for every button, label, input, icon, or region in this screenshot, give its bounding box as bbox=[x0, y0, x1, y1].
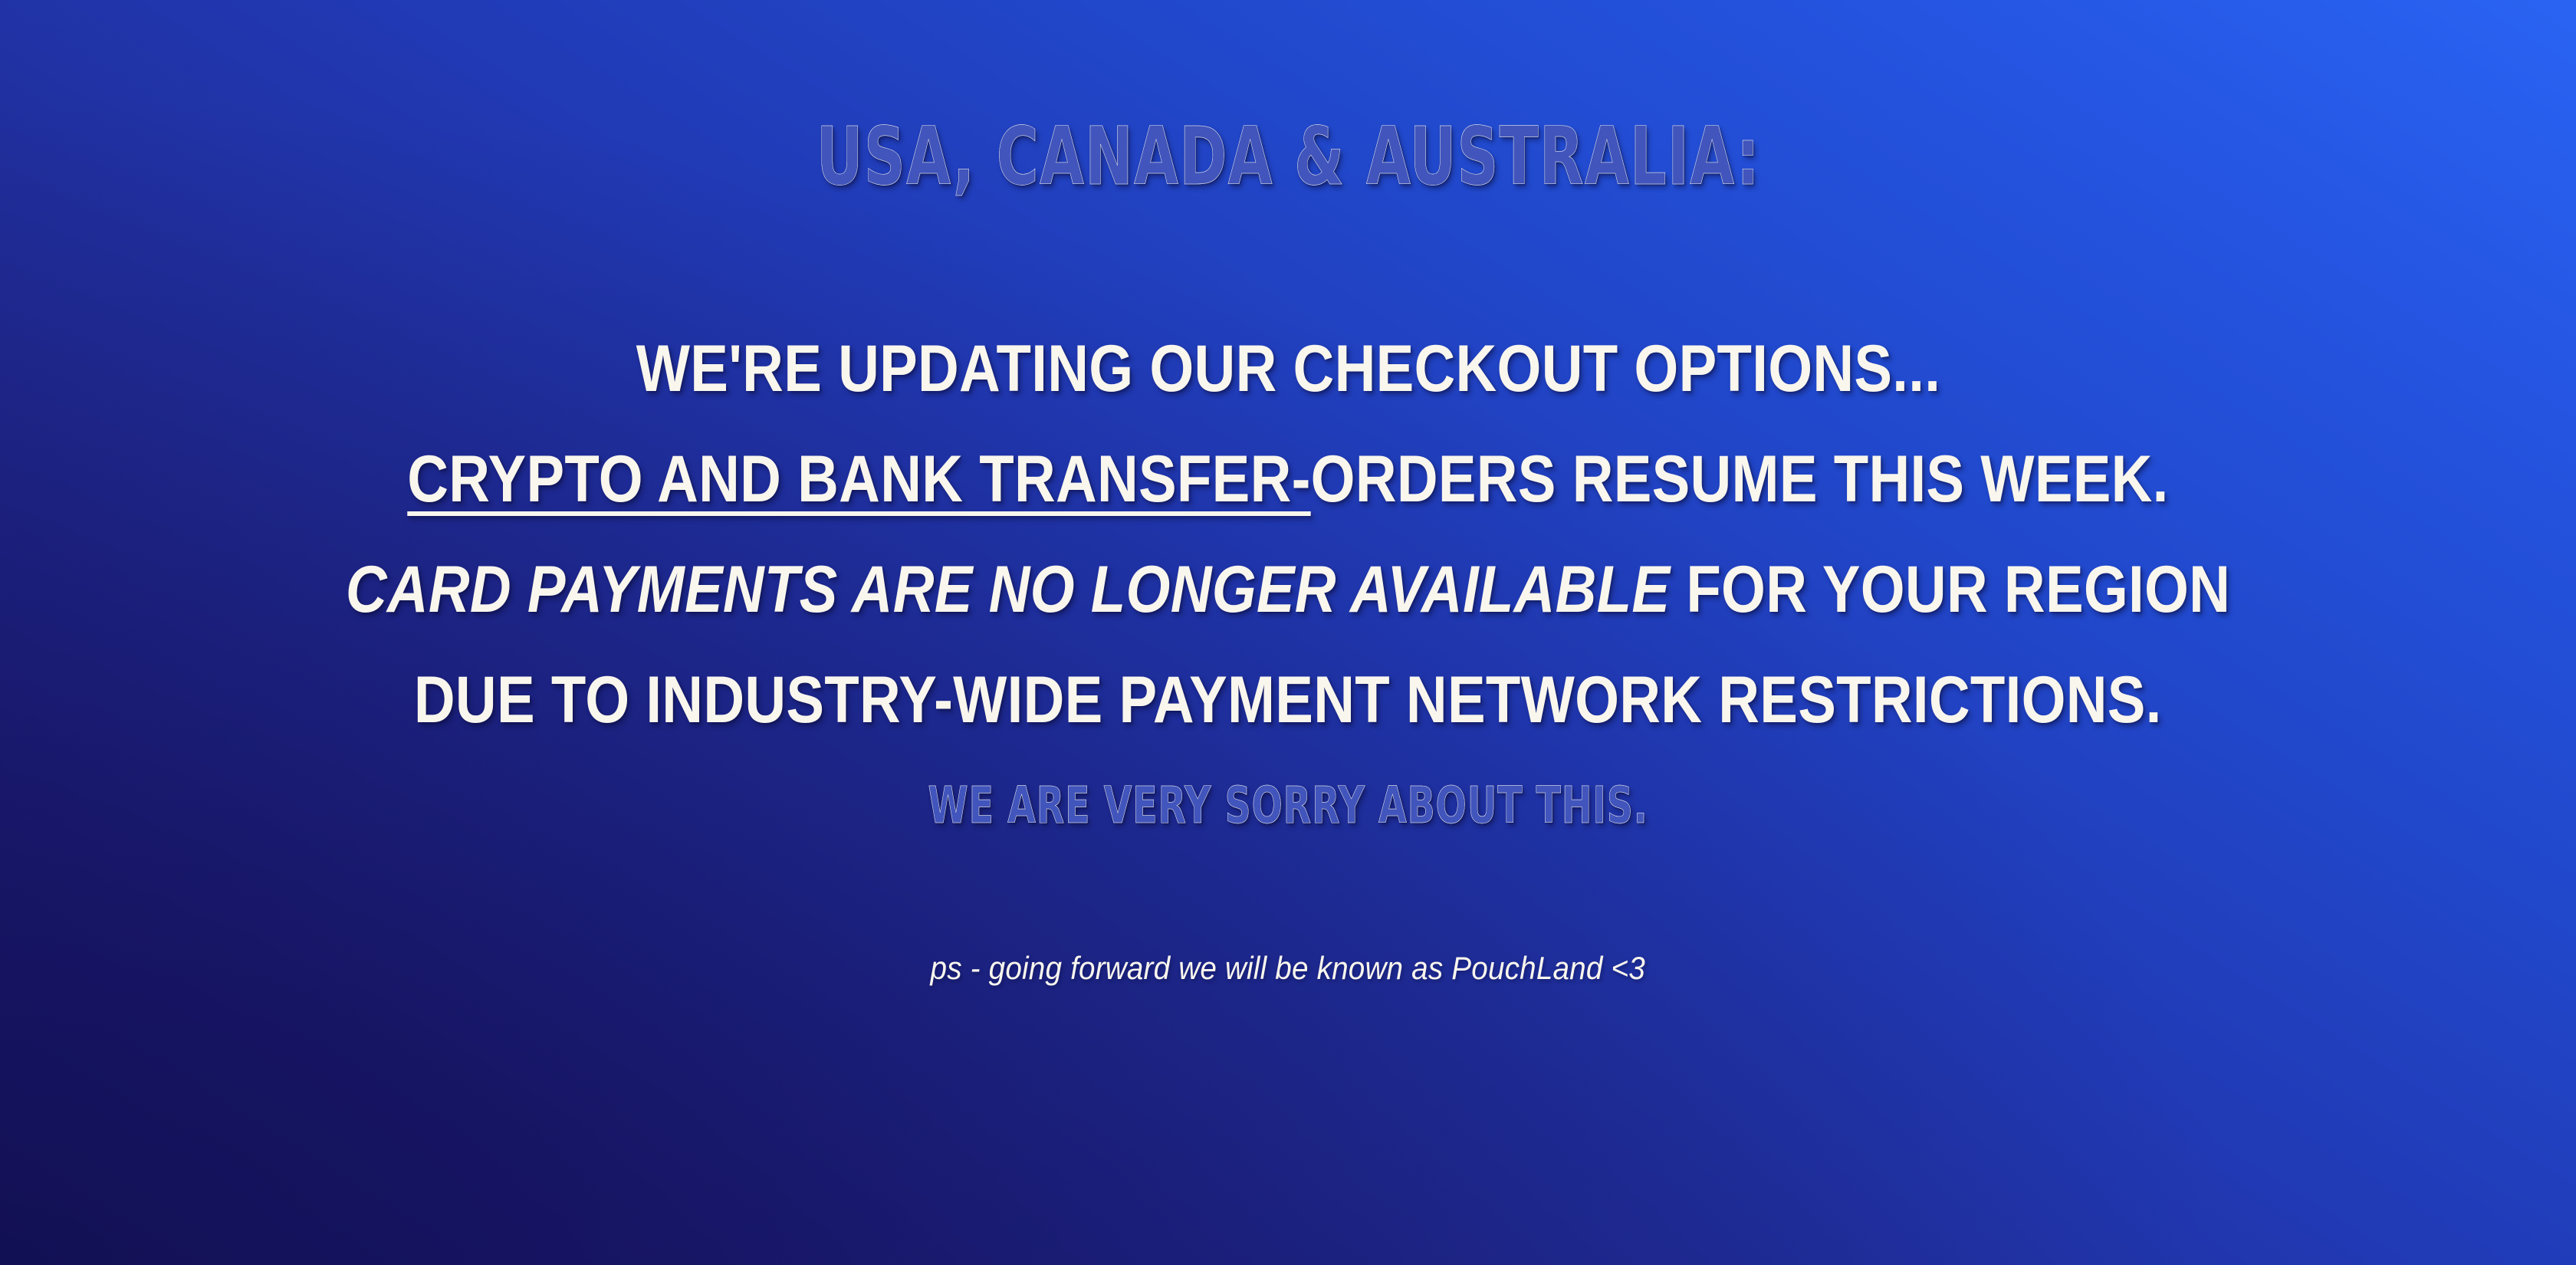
apology-text: WE ARE VERY SORRY ABOUT THIS. bbox=[928, 780, 1648, 831]
banner-content-stack: USA, CANADA & AUSTRALIA: WE'RE UPDATING … bbox=[0, 0, 2576, 1265]
message-line-crypto-tail: ORDERS RESUME THIS WEEK. bbox=[1311, 442, 2169, 516]
announcement-banner: USA, CANADA & AUSTRALIA: WE'RE UPDATING … bbox=[0, 0, 2576, 1265]
message-line-crypto-text: CRYPTO AND BANK TRANSFER-ORDERS RESUME T… bbox=[407, 446, 2168, 512]
message-line-card-tail: FOR YOUR REGION bbox=[1670, 553, 2230, 626]
headline-region: USA, CANADA & AUSTRALIA: bbox=[698, 117, 1878, 196]
message-line-updating-text: WE'RE UPDATING OUR CHECKOUT OPTIONS... bbox=[636, 336, 1940, 402]
message-line-updating: WE'RE UPDATING OUR CHECKOUT OPTIONS... bbox=[534, 336, 2042, 402]
apology-region: WE ARE VERY SORRY ABOUT THIS. bbox=[838, 780, 1738, 831]
footer-region: ps - going forward we will be known as P… bbox=[899, 952, 1676, 984]
message-line-due: DUE TO INDUSTRY-WIDE PAYMENT NETWORK RES… bbox=[278, 667, 2298, 733]
message-line-card: CARD PAYMENTS ARE NO LONGER AVAILABLE FO… bbox=[199, 557, 2377, 623]
message-line-card-text: CARD PAYMENTS ARE NO LONGER AVAILABLE FO… bbox=[346, 557, 2230, 623]
headline-text: USA, CANADA & AUSTRALIA: bbox=[816, 117, 1760, 196]
footer-note-text: ps - going forward we will be known as P… bbox=[931, 952, 1645, 984]
underlined-payment-methods: CRYPTO AND BANK TRANSFER- bbox=[407, 442, 1310, 516]
message-line-due-text: DUE TO INDUSTRY-WIDE PAYMENT NETWORK RES… bbox=[414, 667, 2162, 733]
italic-card-notice: CARD PAYMENTS ARE NO LONGER AVAILABLE bbox=[346, 553, 1671, 626]
message-line-crypto: CRYPTO AND BANK TRANSFER-ORDERS RESUME T… bbox=[270, 446, 2306, 512]
